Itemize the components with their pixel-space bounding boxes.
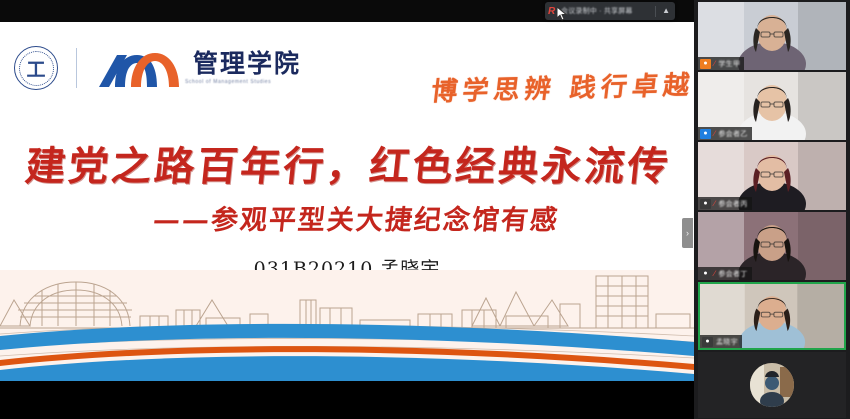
participant-avatar-icon: ● (702, 337, 713, 347)
participant-name: 参会者丙 (718, 199, 747, 209)
slide-title-sub: ——参观平型关大捷纪念馆有感 (17, 207, 694, 234)
bottom-black-strip (0, 381, 694, 419)
participant-4[interactable]: ●∕参会者丁 (698, 212, 846, 280)
participant-2[interactable]: ●∕参会者乙 (698, 72, 846, 140)
avatar-image (750, 363, 794, 407)
mic-muted-icon: ∕ (714, 270, 715, 278)
participant-badge: ●∕参会者乙 (698, 127, 752, 140)
avatar (750, 363, 794, 407)
college-name: 管理学院 (193, 51, 301, 76)
participant-1[interactable]: ●∕学生甲 (698, 2, 846, 70)
participant-name: 学生甲 (718, 59, 740, 69)
slide-brand-header: 工 管理学院 School of Management Studies (14, 46, 301, 90)
participant-avatar-icon: ● (700, 59, 711, 69)
panel-collapse-handle[interactable]: › (682, 218, 693, 248)
participant-name: 孟晓宇 (716, 337, 738, 347)
mic-muted-icon: ∕ (714, 60, 715, 68)
slide-title-main: 建党之路百年行，红色经典永流传 (16, 147, 680, 187)
participant-avatar-icon: ● (700, 269, 711, 279)
seal-mark: 工 (15, 47, 57, 89)
arch-logo-icon (95, 47, 185, 89)
participant-name: 参会者乙 (718, 129, 747, 139)
top-black-bar: R 会议录制中 · 共享屏幕 ▲ (0, 0, 694, 22)
participant-badge: ●∕参会者丙 (698, 197, 752, 210)
university-seal-icon: 工 (14, 46, 58, 90)
brand-divider (76, 48, 77, 88)
slide-motto: 博学思辨 践行卓越 (429, 65, 694, 109)
participant-3[interactable]: ●∕参会者丙 (698, 142, 846, 210)
toolbar-divider (655, 6, 656, 17)
participant-avatar-icon: ● (700, 199, 711, 209)
mic-muted-icon: ∕ (714, 130, 715, 138)
shared-slide[interactable]: 工 管理学院 School of Management Studies 博学思辨… (0, 22, 694, 381)
participant-rail[interactable]: ●∕学生甲 ●∕参会者乙 ●∕参会者丙 ●∕参会者丁 (694, 0, 850, 419)
participant-badge: ●∕学生甲 (698, 57, 744, 70)
participant-5-speaking[interactable]: ●孟晓宇 (698, 282, 846, 350)
city-skyline-illustration (0, 270, 694, 381)
college-name-en: School of Management Studies (185, 79, 301, 85)
recording-toolbar-title: 会议录制中 · 共享屏幕 (561, 6, 651, 16)
participant-badge: ●孟晓宇 (700, 335, 742, 348)
participant-6-avatar[interactable] (698, 352, 846, 418)
participant-name: 参会者丁 (718, 269, 747, 279)
chevron-up-icon[interactable]: ▲ (660, 7, 672, 15)
participant-avatar-icon: ● (700, 129, 711, 139)
participant-badge: ●∕参会者丁 (698, 267, 752, 280)
mic-muted-icon: ∕ (714, 200, 715, 208)
